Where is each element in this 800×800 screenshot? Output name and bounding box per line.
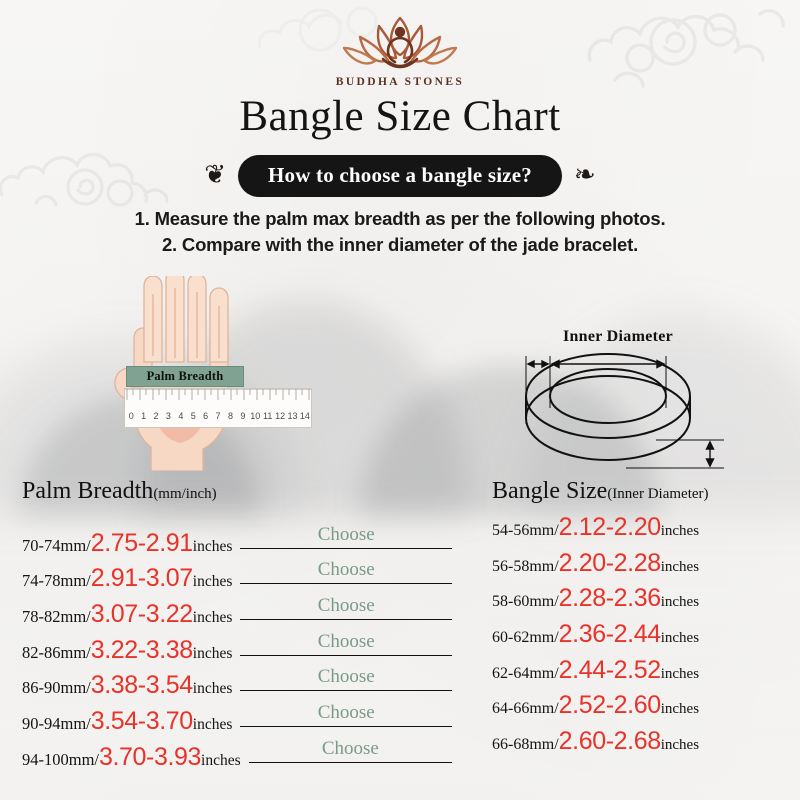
choose-field[interactable]: Choose bbox=[240, 693, 452, 729]
palm-breadth-heading-main: Palm Breadth bbox=[22, 478, 153, 504]
ruler-number: 14 bbox=[299, 411, 311, 421]
bangle-mm-value: 54-56mm/ bbox=[492, 522, 559, 540]
instructions-block: 1. Measure the palm max breadth as per t… bbox=[0, 206, 800, 258]
table-row: 66-68mm/ 2.60-2.68 inches bbox=[492, 729, 792, 765]
choose-field[interactable]: Choose bbox=[240, 551, 452, 587]
instruction-step-2: 2. Compare with the inner diameter of th… bbox=[0, 232, 800, 258]
palm-row-sizes: 90-94mm/ 3.54-3.70 inches bbox=[22, 709, 232, 734]
ornament-flourish-left-icon: ❦ bbox=[204, 162, 226, 188]
palm-mm-value: 90-94mm/ bbox=[22, 714, 91, 734]
ruler-number: 9 bbox=[237, 411, 249, 421]
ruler-number: 3 bbox=[162, 411, 174, 421]
choose-field[interactable]: Choose bbox=[240, 658, 452, 694]
ruler-number: 11 bbox=[261, 411, 273, 421]
choose-label: Choose bbox=[318, 524, 375, 546]
table-row: 56-58mm/ 2.20-2.28 inches bbox=[492, 551, 792, 587]
ruler-number: 2 bbox=[150, 411, 162, 421]
choose-underline bbox=[240, 619, 452, 620]
brand-logo-block: BUDDHA STONES bbox=[0, 12, 800, 88]
bangle-inch-value: 2.60-2.68 bbox=[559, 729, 661, 754]
palm-inch-value: 3.07-3.22 bbox=[91, 602, 193, 627]
table-row: 60-62mm/ 2.36-2.44 inches bbox=[492, 622, 792, 658]
palm-inch-value: 3.54-3.70 bbox=[91, 709, 193, 734]
table-row: 64-66mm/ 2.52-2.60 inches bbox=[492, 693, 792, 729]
palm-unit-label: inches bbox=[193, 538, 233, 556]
ruler-number: 6 bbox=[199, 411, 211, 421]
banner-row: ❦ How to choose a bangle size? ❧ bbox=[0, 155, 800, 197]
palm-inch-value: 3.70-3.93 bbox=[99, 745, 201, 770]
palm-row-sizes: 82-86mm/ 3.22-3.38 inches bbox=[22, 638, 232, 663]
ruler-number: 1 bbox=[137, 411, 149, 421]
how-to-choose-banner: How to choose a bangle size? bbox=[238, 155, 562, 197]
choose-underline bbox=[249, 762, 452, 763]
palm-row-sizes: 74-78mm/ 2.91-3.07 inches bbox=[22, 566, 232, 591]
palm-inch-value: 3.38-3.54 bbox=[91, 673, 193, 698]
palm-unit-label: inches bbox=[193, 680, 233, 698]
palm-breadth-table: Palm Breadth(mm/inch) 70-74mm/ 2.75-2.91… bbox=[22, 478, 452, 765]
palm-breadth-heading-sub: (mm/inch) bbox=[153, 486, 216, 502]
ruler-number: 13 bbox=[286, 411, 298, 421]
bangle-mm-value: 56-58mm/ bbox=[492, 558, 559, 576]
bangle-mm-value: 66-68mm/ bbox=[492, 736, 559, 754]
choose-field[interactable]: Choose bbox=[240, 622, 452, 658]
table-row: 94-100mm/ 3.70-3.93 inches Choose bbox=[22, 729, 452, 765]
ruler-number: 0 bbox=[125, 411, 137, 421]
bangle-unit-label: inches bbox=[661, 630, 699, 647]
table-row: 54-56mm/ 2.12-2.20 inches bbox=[492, 515, 792, 551]
bangle-size-heading-sub: (Inner Diameter) bbox=[607, 486, 708, 502]
palm-row-sizes: 78-82mm/ 3.07-3.22 inches bbox=[22, 602, 232, 627]
ruler-number: 12 bbox=[274, 411, 286, 421]
bangle-unit-label: inches bbox=[661, 737, 699, 754]
bangle-unit-label: inches bbox=[661, 701, 699, 718]
palm-row-sizes: 86-90mm/ 3.38-3.54 inches bbox=[22, 673, 232, 698]
ruler-number: 10 bbox=[249, 411, 261, 421]
choose-label: Choose bbox=[318, 702, 375, 724]
palm-mm-value: 78-82mm/ bbox=[22, 607, 91, 627]
bangle-inch-value: 2.28-2.36 bbox=[559, 586, 661, 611]
bangle-inch-value: 2.12-2.20 bbox=[559, 515, 661, 540]
table-row: 78-82mm/ 3.07-3.22 inches Choose bbox=[22, 586, 452, 622]
palm-unit-label: inches bbox=[193, 716, 233, 734]
bangle-inch-value: 2.20-2.28 bbox=[559, 551, 661, 576]
table-row: 86-90mm/ 3.38-3.54 inches Choose bbox=[22, 658, 452, 694]
bangle-unit-label: inches bbox=[661, 594, 699, 611]
bangle-unit-label: inches bbox=[661, 559, 699, 576]
choose-underline bbox=[240, 583, 452, 584]
choose-field[interactable]: Choose bbox=[249, 729, 452, 765]
palm-breadth-band-label: Palm Breadth bbox=[126, 366, 244, 387]
bangle-inch-value: 2.36-2.44 bbox=[559, 622, 661, 647]
ruler-number: 8 bbox=[224, 411, 236, 421]
instruction-step-1: 1. Measure the palm max breadth as per t… bbox=[0, 206, 800, 232]
palm-mm-value: 70-74mm/ bbox=[22, 536, 91, 556]
palm-mm-value: 82-86mm/ bbox=[22, 643, 91, 663]
bangle-mm-value: 62-64mm/ bbox=[492, 665, 559, 683]
table-row: 70-74mm/ 2.75-2.91 inches Choose bbox=[22, 515, 452, 551]
bangle-size-heading: Bangle Size(Inner Diameter) bbox=[492, 478, 792, 505]
palm-row-sizes: 70-74mm/ 2.75-2.91 inches bbox=[22, 531, 232, 556]
choose-underline bbox=[240, 548, 452, 549]
page-title: Bangle Size Chart bbox=[0, 92, 800, 141]
table-row: 62-64mm/ 2.44-2.52 inches bbox=[492, 658, 792, 694]
bangle-mm-value: 60-62mm/ bbox=[492, 629, 559, 647]
bangle-ring-diagram bbox=[498, 328, 738, 478]
hand-measurement-figure: Palm Breadth bbox=[96, 276, 326, 471]
choose-label: Choose bbox=[318, 595, 375, 617]
palm-row-sizes: 94-100mm/ 3.70-3.93 inches bbox=[22, 745, 241, 770]
ruler-number: 4 bbox=[175, 411, 187, 421]
table-row: 82-86mm/ 3.22-3.38 inches Choose bbox=[22, 622, 452, 658]
palm-mm-value: 86-90mm/ bbox=[22, 678, 91, 698]
bangle-size-heading-main: Bangle Size bbox=[492, 478, 607, 504]
palm-unit-label: inches bbox=[201, 752, 241, 770]
palm-unit-label: inches bbox=[193, 573, 233, 591]
table-row: 90-94mm/ 3.54-3.70 inches Choose bbox=[22, 693, 452, 729]
choose-underline bbox=[240, 655, 452, 656]
bangle-inch-value: 2.52-2.60 bbox=[559, 693, 661, 718]
choose-label: Choose bbox=[318, 559, 375, 581]
ruler-number: 5 bbox=[187, 411, 199, 421]
bangle-size-chart-page: BUDDHA STONES Bangle Size Chart ❦ How to… bbox=[0, 0, 800, 800]
brand-name: BUDDHA STONES bbox=[336, 76, 464, 88]
choose-label: Choose bbox=[322, 738, 379, 760]
bangle-mm-value: 58-60mm/ bbox=[492, 593, 559, 611]
choose-underline bbox=[240, 690, 452, 691]
bangle-mm-value: 64-66mm/ bbox=[492, 700, 559, 718]
ruler-number: 7 bbox=[212, 411, 224, 421]
palm-unit-label: inches bbox=[193, 645, 233, 663]
table-row: 74-78mm/ 2.91-3.07 inches Choose bbox=[22, 551, 452, 587]
bangle-unit-label: inches bbox=[661, 523, 699, 540]
choose-label: Choose bbox=[318, 666, 375, 688]
palm-inch-value: 2.91-3.07 bbox=[91, 566, 193, 591]
choose-underline bbox=[240, 726, 452, 727]
ruler: 0 1 2 3 4 5 6 7 8 9 10 11 12 13 14 bbox=[124, 388, 312, 428]
palm-breadth-heading: Palm Breadth(mm/inch) bbox=[22, 478, 452, 505]
ruler-ticks bbox=[125, 389, 311, 405]
palm-unit-label: inches bbox=[193, 609, 233, 627]
bangle-inch-value: 2.44-2.52 bbox=[559, 658, 661, 683]
bangle-size-table: Bangle Size(Inner Diameter) 54-56mm/ 2.1… bbox=[492, 478, 792, 765]
lotus-meditation-icon bbox=[339, 12, 461, 74]
table-row: 58-60mm/ 2.28-2.36 inches bbox=[492, 586, 792, 622]
palm-inch-value: 2.75-2.91 bbox=[91, 531, 193, 556]
palm-mm-value: 94-100mm/ bbox=[22, 750, 99, 770]
ruler-numbers: 0 1 2 3 4 5 6 7 8 9 10 11 12 13 14 bbox=[125, 404, 311, 428]
choose-field[interactable]: Choose bbox=[240, 586, 452, 622]
palm-inch-value: 3.22-3.38 bbox=[91, 638, 193, 663]
choose-field[interactable]: Choose bbox=[240, 515, 452, 551]
palm-mm-value: 74-78mm/ bbox=[22, 571, 91, 591]
bangle-unit-label: inches bbox=[661, 666, 699, 683]
choose-label: Choose bbox=[318, 631, 375, 653]
inner-diameter-label: Inner Diameter bbox=[498, 328, 738, 346]
bangle-diagram-figure: Inner Diameter bbox=[498, 328, 738, 478]
ornament-flourish-right-icon: ❧ bbox=[574, 162, 596, 188]
